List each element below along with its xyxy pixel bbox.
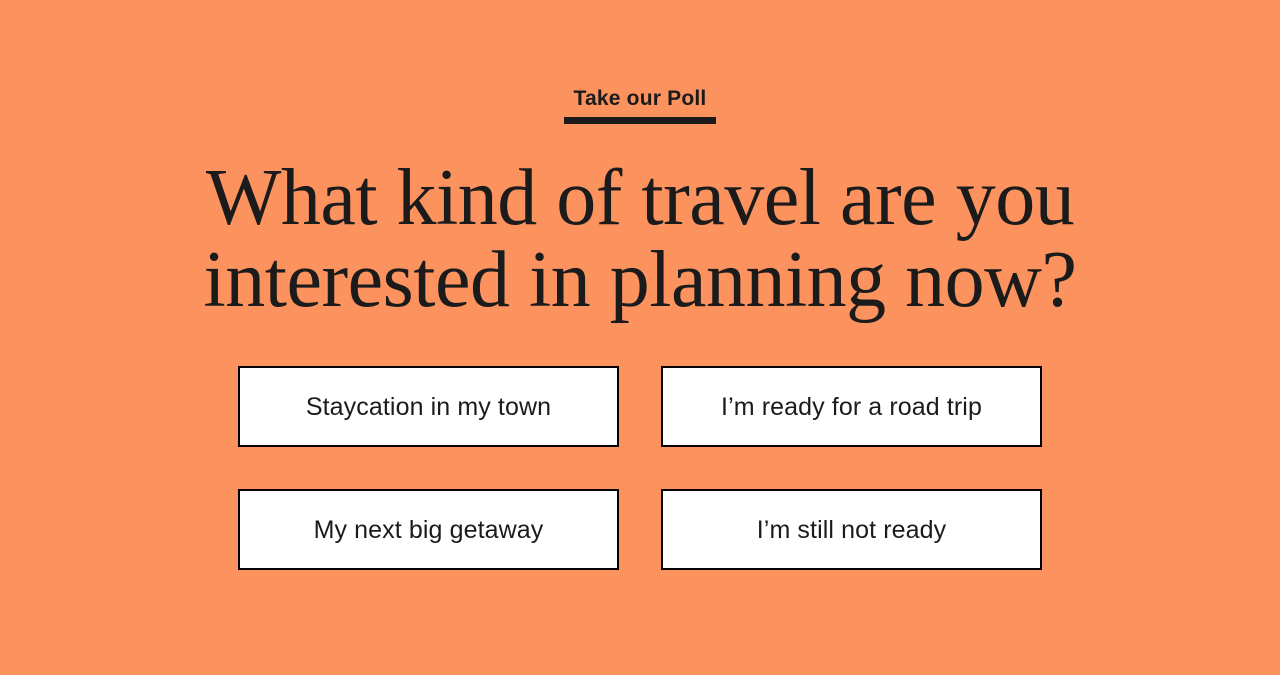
poll-eyebrow-label: Take our Poll: [574, 86, 707, 112]
poll-question: What kind of travel are you interested i…: [190, 157, 1090, 321]
poll-card: Take our Poll What kind of travel are yo…: [0, 0, 1280, 675]
poll-option-road-trip[interactable]: I’m ready for a road trip: [661, 366, 1042, 447]
poll-option-big-getaway[interactable]: My next big getaway: [238, 489, 619, 570]
poll-eyebrow-group: Take our Poll: [564, 86, 716, 124]
poll-option-label: My next big getaway: [314, 515, 544, 545]
poll-options-grid: Staycation in my town I’m ready for a ro…: [238, 366, 1042, 570]
poll-option-label: I’m ready for a road trip: [721, 392, 982, 422]
poll-option-not-ready[interactable]: I’m still not ready: [661, 489, 1042, 570]
poll-option-label: I’m still not ready: [757, 515, 946, 545]
poll-option-label: Staycation in my town: [306, 392, 551, 422]
poll-option-staycation[interactable]: Staycation in my town: [238, 366, 619, 447]
poll-eyebrow-underline: [564, 117, 716, 124]
